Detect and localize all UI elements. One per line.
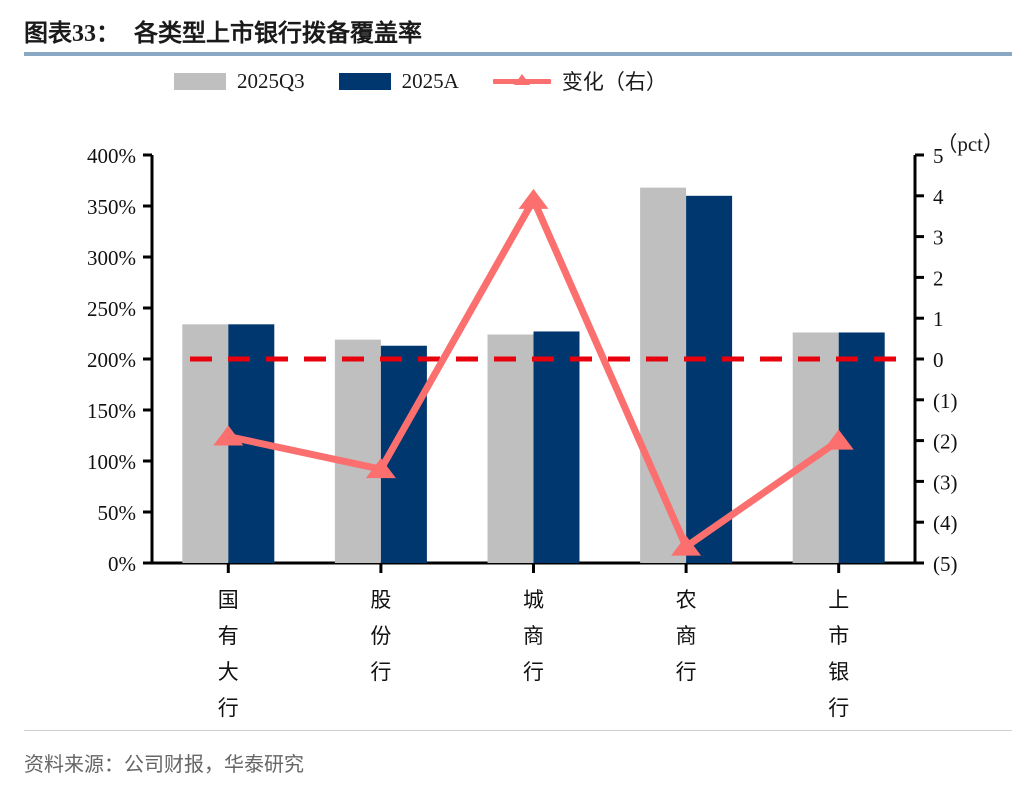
chart-area: 0%50%100%150%200%250%300%350%400%(5)(4)(… — [0, 0, 1036, 792]
bar-2025a[interactable] — [686, 196, 732, 563]
right-axis-tick-label: 1 — [933, 307, 944, 331]
x-axis-category-label: 大 — [218, 660, 239, 684]
bar-2025q3[interactable] — [335, 340, 381, 563]
left-axis-tick-label: 300% — [87, 246, 136, 270]
left-axis-tick-label: 400% — [87, 144, 136, 168]
left-axis-tick-label: 350% — [87, 195, 136, 219]
right-axis-tick-label: 3 — [933, 226, 944, 250]
left-axis-tick-label: 200% — [87, 348, 136, 372]
x-axis-category-label: 国 — [218, 588, 239, 612]
footer-divider — [24, 730, 1012, 731]
x-axis-category-label: 行 — [523, 660, 544, 684]
left-axis-tick-label: 50% — [98, 501, 137, 525]
chart-svg: 0%50%100%150%200%250%300%350%400%(5)(4)(… — [0, 0, 1036, 792]
x-axis-category-label: 行 — [218, 696, 239, 720]
x-axis-category-label: 有 — [218, 624, 239, 648]
x-axis-category-label: 行 — [676, 660, 697, 684]
right-axis-tick-label: (3) — [933, 470, 958, 494]
source-note: 资料来源：公司财报，华泰研究 — [24, 748, 304, 777]
x-axis-category-label: 农 — [676, 588, 697, 612]
x-axis-category-label: 市 — [828, 624, 849, 648]
x-axis-category-label: 商 — [523, 624, 544, 648]
right-axis-tick-label: 5 — [933, 144, 944, 168]
left-axis-tick-label: 150% — [87, 399, 136, 423]
bar-2025q3[interactable] — [488, 335, 534, 563]
left-axis-tick-label: 250% — [87, 297, 136, 321]
x-axis-category-label: 银 — [828, 660, 849, 684]
x-axis-category-label: 行 — [828, 696, 849, 720]
x-axis-category-label: 城 — [523, 588, 544, 612]
figure-page: 图表33： 各类型上市银行拨备覆盖率 2025Q3 2025A 变化（右） （p… — [0, 0, 1036, 792]
right-axis-tick-label: (1) — [933, 389, 958, 413]
bar-2025q3[interactable] — [640, 188, 686, 563]
x-axis-category-label: 上 — [828, 588, 849, 612]
right-axis-tick-label: (4) — [933, 511, 958, 535]
x-axis-category-label: 股 — [370, 588, 391, 612]
right-axis-tick-label: 4 — [933, 185, 944, 209]
x-axis-category-label: 行 — [370, 660, 391, 684]
left-axis-tick-label: 0% — [108, 552, 136, 576]
right-axis-tick-label: (2) — [933, 430, 958, 454]
x-axis-category-label: 商 — [676, 624, 697, 648]
bar-2025a[interactable] — [534, 331, 580, 563]
left-axis-tick-label: 100% — [87, 450, 136, 474]
right-axis-tick-label: 0 — [933, 348, 944, 372]
change-line-marker[interactable] — [519, 189, 549, 209]
x-axis-category-label: 份 — [370, 624, 391, 648]
right-axis-tick-label: (5) — [933, 552, 958, 576]
right-axis-tick-label: 2 — [933, 266, 944, 290]
